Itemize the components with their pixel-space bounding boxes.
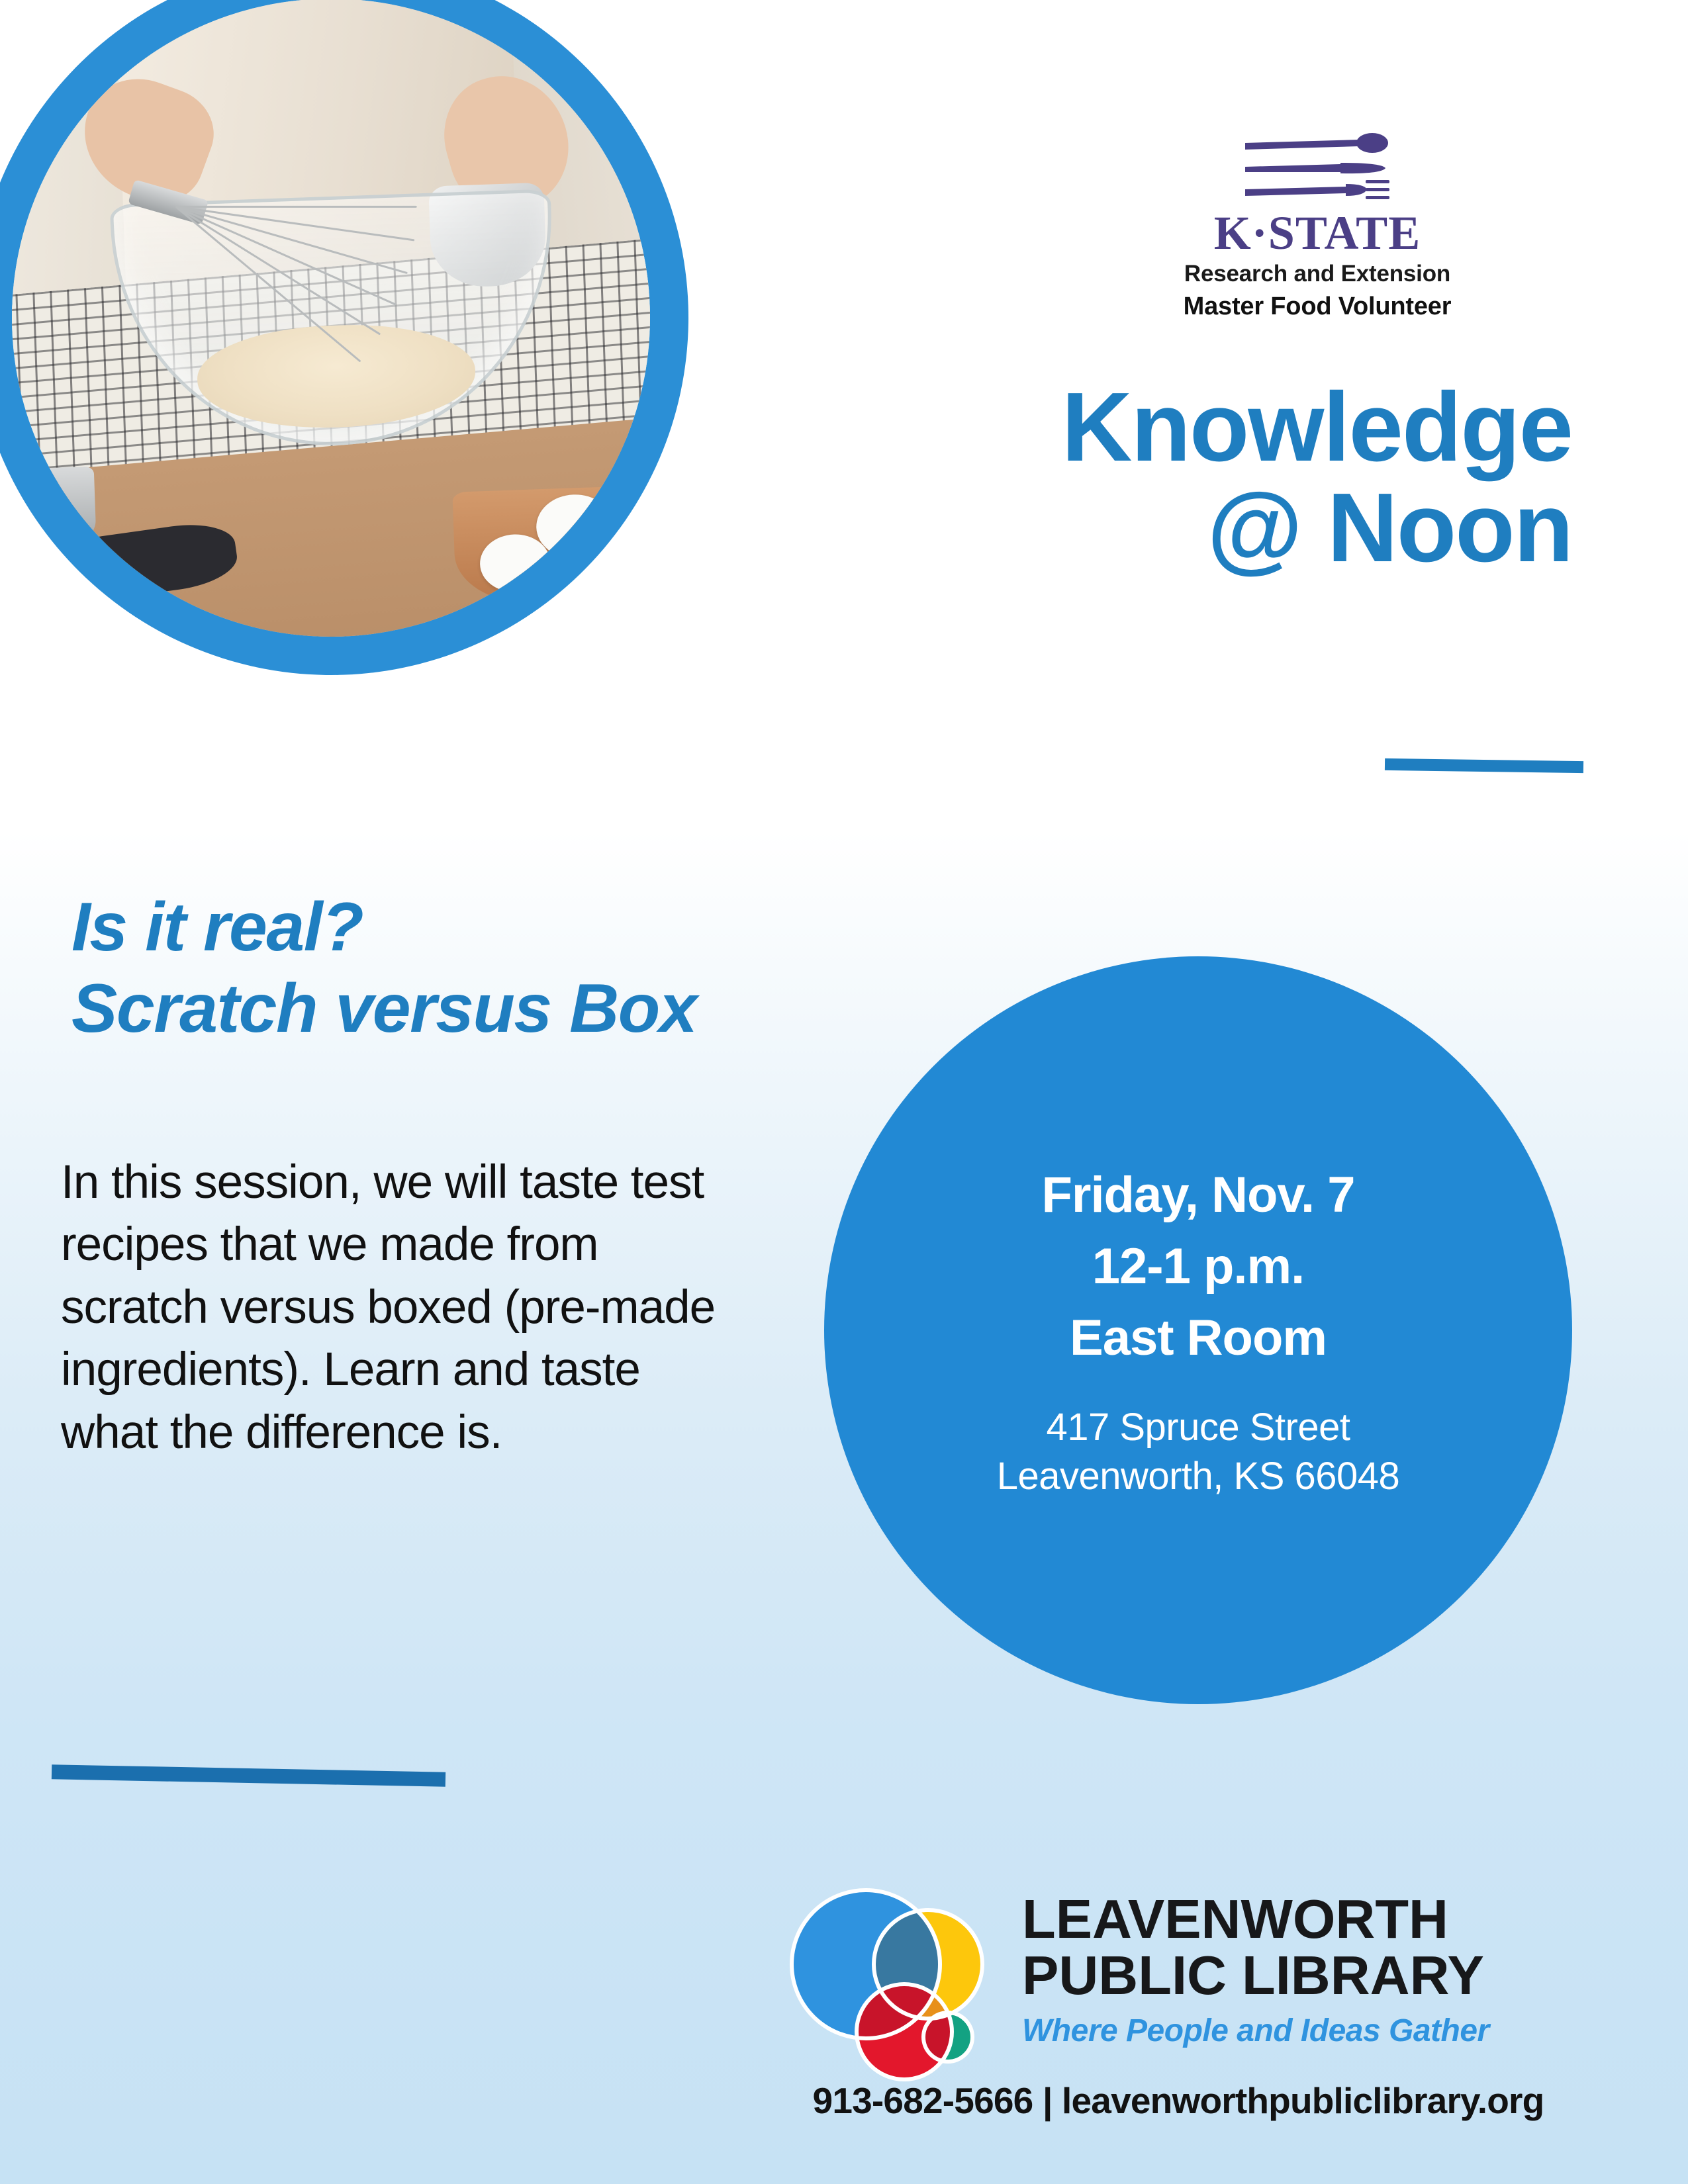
library-name-line2: PUBLIC LIBRARY (1022, 1948, 1489, 2004)
overlapping-circles-logo-icon (788, 1880, 1000, 2088)
kstate-program-name: Master Food Volunteer (1132, 293, 1503, 321)
photo-baking-tin (4, 467, 96, 546)
page-title: Is it real? Scratch versus Box (71, 887, 959, 1049)
library-logo: LEAVENWORTH PUBLIC LIBRARY Where People … (788, 1880, 1556, 2088)
photo-scene (1, 0, 661, 648)
accent-bar-top (1385, 758, 1583, 773)
headline-line2: Scratch versus Box (71, 968, 959, 1050)
library-contact: 913-682-5666 | leavenworthpubliclibrary.… (788, 2079, 1569, 2122)
event-date: Friday, Nov. 7 (1041, 1160, 1354, 1231)
library-tagline: Where People and Ideas Gather (1022, 2013, 1489, 2049)
event-flyer: K·STATE Research and Extension Master Fo… (0, 0, 1688, 2184)
library-website[interactable]: leavenworthpubliclibrary.org (1062, 2080, 1544, 2121)
event-room: East Room (1070, 1302, 1327, 1374)
kstate-logo: K·STATE Research and Extension Master Fo… (1132, 132, 1503, 321)
event-details-badge: Friday, Nov. 7 12-1 p.m. East Room 417 S… (824, 956, 1572, 1704)
event-address-line2: Leavenworth, KS 66048 (997, 1452, 1400, 1501)
library-name: LEAVENWORTH PUBLIC LIBRARY (1022, 1891, 1489, 2003)
event-time: 12-1 p.m. (1092, 1231, 1304, 1302)
series-title-line1: Knowledge (1062, 373, 1572, 482)
contact-separator: | (1033, 2080, 1062, 2121)
accent-bar-bottom (52, 1764, 445, 1786)
kstate-subtitle: Research and Extension (1132, 261, 1503, 287)
library-wordmark: LEAVENWORTH PUBLIC LIBRARY Where People … (1022, 1880, 1489, 2049)
library-phone: 913-682-5666 (813, 2080, 1033, 2121)
description-text: In this session, we will taste test reci… (61, 1152, 736, 1464)
series-title: Knowledge @ Noon (844, 377, 1572, 579)
library-name-line1: LEAVENWORTH (1022, 1891, 1489, 1948)
headline-line1: Is it real? (71, 889, 363, 966)
whisking-batter-in-glass-bowl-photo (1, 0, 661, 648)
event-address-line1: 417 Spruce Street (997, 1403, 1400, 1452)
kstate-wordmark: K·STATE (1132, 209, 1503, 257)
series-title-line2: @ Noon (844, 478, 1572, 578)
event-address: 417 Spruce Street Leavenworth, KS 66048 (997, 1403, 1400, 1501)
hero-photo (0, 0, 688, 675)
spoon-knife-fork-icon (1241, 132, 1393, 205)
